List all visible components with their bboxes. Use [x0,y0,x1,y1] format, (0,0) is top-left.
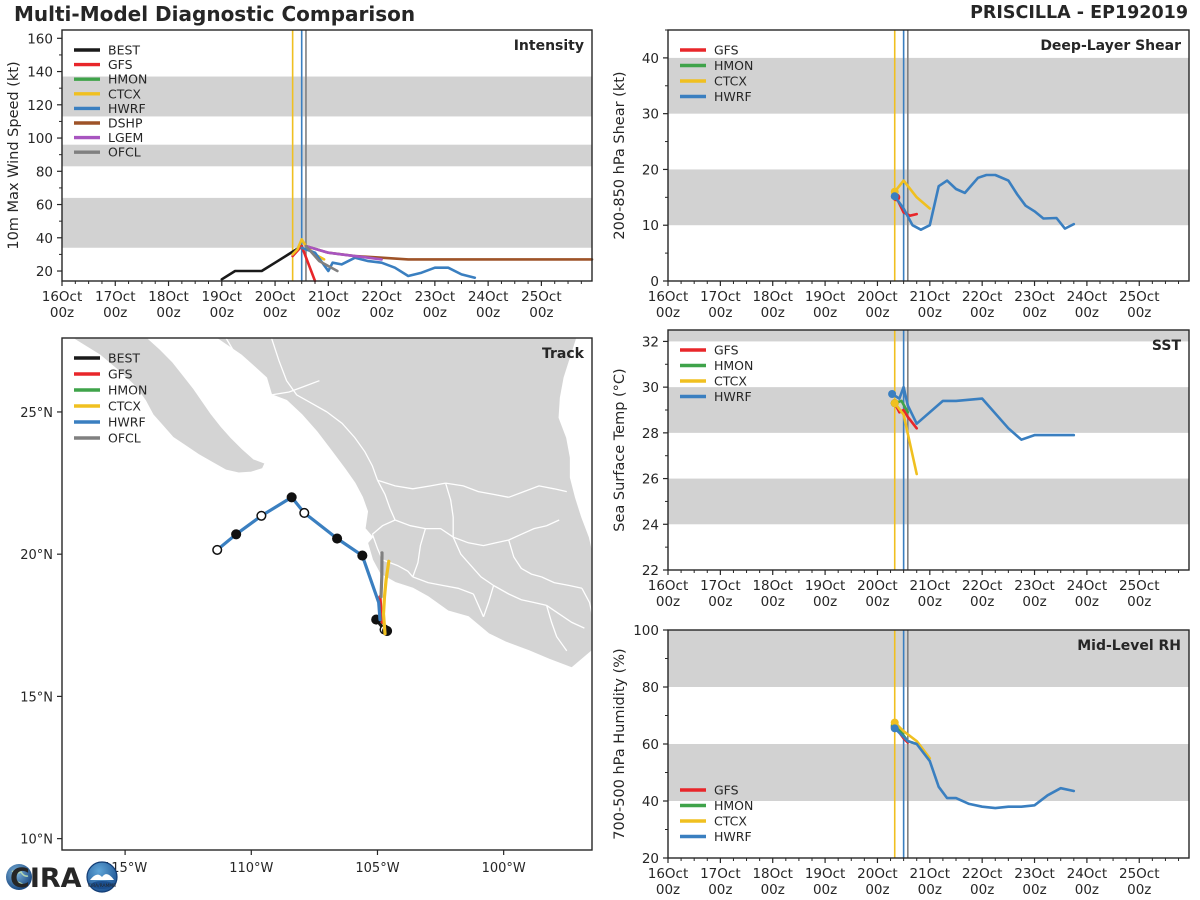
ytick-label-rh-80: 80 [642,680,659,696]
cira-logo-icon: CIRA CIRA/RAMMB [4,856,124,898]
ytick-label-sst-26: 26 [642,472,659,488]
xtick-sublabel-sst-2: 00z [761,594,785,610]
track-marker-HWRF-6 [358,551,367,560]
panel-intensity: 2040608010012014016016Oct00z17Oct00z18Oc… [6,30,592,321]
xtick-label-sst-2: 18Oct [752,578,793,594]
track-series-OFCL [381,553,382,597]
legend-label-sst-GFS: GFS [714,343,739,358]
xtick-label-rh-9: 25Oct [1119,866,1160,882]
figure-canvas: 2040608010012014016016Oct00z17Oct00z18Oc… [0,0,1200,900]
legend-label-shear-GFS: GFS [714,43,739,58]
xtick-sublabel-sst-8: 00z [1075,594,1099,610]
xtick-label-sst-4: 20Oct [857,578,898,594]
xtick-label-sst-0: 16Oct [648,578,689,594]
xtick-sublabel-intensity-6: 00z [369,305,393,321]
xtick-label-rh-5: 21Oct [910,866,951,882]
ytick-label-sst-30: 30 [642,380,659,396]
xtick-label-intensity-5: 21Oct [308,289,349,305]
ytick-label-shear-10: 10 [642,218,659,234]
ylabel-intensity: 10m Max Wind Speed (kt) [6,61,22,249]
xtick-label-rh-3: 19Oct [805,866,846,882]
xtick-sublabel-rh-5: 00z [918,882,942,898]
track-marker-HWRF-5 [333,534,342,543]
legend-label-sst-HWRF: HWRF [714,389,752,404]
legend-label-rh-HMON: HMON [714,798,753,813]
xtick-sublabel-shear-4: 00z [865,305,889,321]
xtick-label-sst-7: 23Oct [1014,578,1055,594]
page-title-right: PRISCILLA - EP192019 [970,3,1188,23]
xtick-sublabel-sst-5: 00z [918,594,942,610]
xtick-sublabel-sst-6: 00z [970,594,994,610]
xtick-sublabel-shear-5: 00z [918,305,942,321]
xtick-sublabel-rh-8: 00z [1075,882,1099,898]
ytick-label-intensity-20: 20 [36,264,53,280]
ytick-label-shear-20: 20 [642,162,659,178]
xtick-label-shear-2: 18Oct [752,289,793,305]
panel-rh: 2040608010016Oct00z17Oct00z18Oct00z19Oct… [612,623,1189,898]
xtick-sublabel-rh-4: 00z [865,882,889,898]
xtick-label-intensity-2: 18Oct [148,289,189,305]
xtick-sublabel-rh-9: 00z [1127,882,1151,898]
track-marker-HWRF-4 [300,509,309,518]
xtick-sublabel-intensity-4: 00z [263,305,287,321]
ytick-label-rh-100: 100 [633,623,659,639]
xtick-label-rh-0: 16Oct [648,866,689,882]
diagnostic-figure: 2040608010012014016016Oct00z17Oct00z18Oc… [0,0,1200,900]
panel-tag-shear: Deep-Layer Shear [1040,38,1181,54]
xtick-label-shear-5: 21Oct [910,289,951,305]
xtick-label-sst-8: 24Oct [1067,578,1108,594]
track-xtick-label--105: 105°W [355,861,399,876]
ylabel-sst: Sea Surface Temp (°C) [612,368,628,531]
xtick-sublabel-shear-3: 00z [813,305,837,321]
xtick-label-sst-6: 22Oct [962,578,1003,594]
panel-tag-rh: Mid-Level RH [1077,638,1181,654]
xtick-label-intensity-1: 17Oct [95,289,136,305]
legend-label-track-GFS: GFS [108,367,133,382]
ytick-label-intensity-80: 80 [36,164,53,180]
xtick-label-sst-1: 17Oct [700,578,741,594]
xtick-label-shear-9: 25Oct [1119,289,1160,305]
xtick-label-shear-4: 20Oct [857,289,898,305]
xtick-label-rh-6: 22Oct [962,866,1003,882]
xtick-sublabel-sst-0: 00z [656,594,680,610]
xtick-label-shear-3: 19Oct [805,289,846,305]
ytick-label-sst-28: 28 [642,426,659,442]
series-marker-shear-HWRF [891,192,899,200]
xtick-sublabel-shear-9: 00z [1127,305,1151,321]
legend-label-intensity-OFCL: OFCL [108,145,141,160]
xtick-sublabel-intensity-0: 00z [50,305,74,321]
ytick-label-intensity-100: 100 [27,131,53,147]
ytick-label-intensity-160: 160 [27,31,53,47]
xtick-sublabel-sst-7: 00z [1022,594,1046,610]
page-title-left: Multi-Model Diagnostic Comparison [14,2,415,26]
ytick-label-intensity-120: 120 [27,98,53,114]
shaded-band-sst-2 [668,330,1189,341]
cira-logo: CIRA CIRA/RAMMB [4,856,124,898]
xtick-label-intensity-3: 19Oct [202,289,243,305]
xtick-sublabel-rh-7: 00z [1022,882,1046,898]
legend-label-shear-HMON: HMON [714,58,753,73]
xtick-label-intensity-0: 16Oct [42,289,83,305]
svg-text:CIRA/RAMMB: CIRA/RAMMB [88,883,116,889]
legend-label-intensity-LGEM: LGEM [108,130,143,145]
shaded-band-shear-0 [668,169,1189,225]
xtick-sublabel-rh-1: 00z [708,882,732,898]
series-marker-sst-HWRF [888,390,896,398]
legend-label-track-HMON: HMON [108,383,147,398]
shaded-band-intensity-1 [62,145,592,167]
ytick-label-sst-32: 32 [642,334,659,350]
ytick-label-shear-0: 0 [650,274,659,290]
shaded-band-sst-0 [668,479,1189,525]
legend-label-sst-CTCX: CTCX [714,374,747,389]
legend-label-track-CTCX: CTCX [108,399,141,414]
xtick-sublabel-intensity-9: 00z [529,305,553,321]
track-marker-HWRF-0 [213,546,222,555]
xtick-label-shear-8: 24Oct [1067,289,1108,305]
xtick-sublabel-sst-9: 00z [1127,594,1151,610]
track-xtick-label--110: 110°W [229,861,273,876]
xtick-sublabel-sst-3: 00z [813,594,837,610]
ylabel-rh: 700-500 hPa Humidity (%) [612,648,628,839]
xtick-label-shear-0: 16Oct [648,289,689,305]
legend-label-shear-HWRF: HWRF [714,89,752,104]
panel-sst: 22242628303216Oct00z17Oct00z18Oct00z19Oc… [612,330,1189,610]
xtick-sublabel-rh-3: 00z [813,882,837,898]
xtick-label-sst-3: 19Oct [805,578,846,594]
track-marker-HWRF-1 [232,530,241,539]
legend-label-intensity-GFS: GFS [108,57,133,72]
legend-label-rh-CTCX: CTCX [714,814,747,829]
legend-label-intensity-BEST: BEST [108,43,140,58]
xtick-sublabel-intensity-8: 00z [476,305,500,321]
ytick-label-intensity-40: 40 [36,231,53,247]
ytick-label-shear-40: 40 [642,51,659,67]
xtick-sublabel-intensity-2: 00z [156,305,180,321]
xtick-label-intensity-8: 24Oct [468,289,509,305]
xtick-sublabel-shear-1: 00z [708,305,732,321]
panel-track: 10°N15°N20°N25°N115°W110°W105°W100°WTrac… [20,338,592,876]
xtick-label-intensity-9: 25Oct [521,289,562,305]
ytick-label-rh-60: 60 [642,737,659,753]
ytick-label-intensity-60: 60 [36,198,53,214]
panel-shear: 01020304016Oct00z17Oct00z18Oct00z19Oct00… [612,30,1189,321]
xtick-label-shear-7: 23Oct [1014,289,1055,305]
track-ytick-label-20: 20°N [20,548,53,563]
xtick-sublabel-rh-6: 00z [970,882,994,898]
series-marker-rh-HWRF [891,724,899,732]
xtick-sublabel-intensity-7: 00z [423,305,447,321]
xtick-sublabel-sst-4: 00z [865,594,889,610]
xtick-sublabel-shear-7: 00z [1022,305,1046,321]
ytick-label-sst-22: 22 [642,563,659,579]
track-xtick-label--100: 100°W [482,861,526,876]
track-marker-HWRF-3 [287,493,296,502]
xtick-sublabel-shear-2: 00z [761,305,785,321]
shaded-band-intensity-0 [62,198,592,248]
xtick-label-sst-9: 25Oct [1119,578,1160,594]
xtick-sublabel-sst-1: 00z [708,594,732,610]
ytick-label-shear-30: 30 [642,107,659,123]
xtick-label-intensity-6: 22Oct [361,289,402,305]
panel-tag-track: Track [542,346,585,362]
legend-label-intensity-CTCX: CTCX [108,86,141,101]
ylabel-shear: 200-850 hPa Shear (kt) [612,71,628,239]
legend-label-intensity-HWRF: HWRF [108,101,146,116]
xtick-label-rh-4: 20Oct [857,866,898,882]
ytick-label-rh-40: 40 [642,794,659,810]
track-ytick-label-25: 25°N [20,406,53,421]
track-marker-HWRF-2 [257,511,266,520]
legend-label-intensity-HMON: HMON [108,72,147,87]
xtick-label-rh-1: 17Oct [700,866,741,882]
track-ytick-label-10: 10°N [20,833,53,848]
xtick-label-rh-2: 18Oct [752,866,793,882]
ytick-label-rh-20: 20 [642,851,659,867]
ytick-label-intensity-140: 140 [27,65,53,81]
legend-label-track-HWRF: HWRF [108,415,146,430]
xtick-label-sst-5: 21Oct [910,578,951,594]
legend-label-shear-CTCX: CTCX [714,74,747,89]
xtick-sublabel-shear-0: 00z [656,305,680,321]
series-marker-sst-CTCX [891,399,899,407]
panel-tag-sst: SST [1152,338,1182,354]
xtick-label-shear-6: 22Oct [962,289,1003,305]
xtick-label-rh-8: 24Oct [1067,866,1108,882]
xtick-sublabel-intensity-3: 00z [210,305,234,321]
legend-label-rh-HWRF: HWRF [714,829,752,844]
xtick-sublabel-intensity-5: 00z [316,305,340,321]
ytick-label-sst-24: 24 [642,517,659,533]
shaded-band-rh-0 [668,744,1189,801]
legend-label-sst-HMON: HMON [714,358,753,373]
xtick-label-intensity-4: 20Oct [255,289,296,305]
xtick-sublabel-rh-0: 00z [656,882,680,898]
xtick-label-intensity-7: 23Oct [415,289,456,305]
xtick-label-shear-1: 17Oct [700,289,741,305]
xtick-sublabel-shear-8: 00z [1075,305,1099,321]
legend-label-intensity-DSHP: DSHP [108,116,143,131]
panel-tag-intensity: Intensity [514,38,584,54]
legend-label-track-OFCL: OFCL [108,431,141,446]
track-ytick-label-15: 15°N [20,690,53,705]
xtick-label-rh-7: 23Oct [1014,866,1055,882]
legend-label-track-BEST: BEST [108,351,140,366]
xtick-sublabel-intensity-1: 00z [103,305,127,321]
svg-text:CIRA: CIRA [10,863,82,894]
xtick-sublabel-rh-2: 00z [761,882,785,898]
legend-label-rh-GFS: GFS [714,783,739,798]
xtick-sublabel-shear-6: 00z [970,305,994,321]
